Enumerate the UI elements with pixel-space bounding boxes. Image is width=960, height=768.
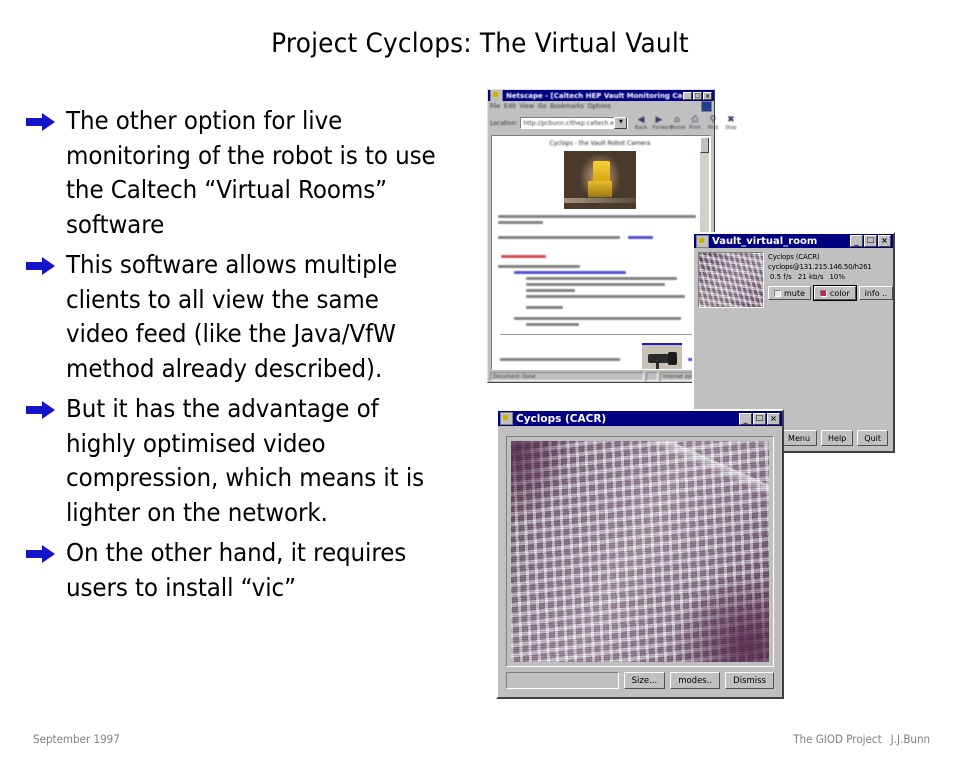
- page-divider: [500, 334, 700, 335]
- minimize-icon[interactable]: _: [683, 92, 692, 100]
- vault-source-info: Cyclops (CACR) cyclops@131.215.146.50/h2…: [768, 252, 893, 308]
- arrow-right-icon: [26, 536, 60, 563]
- arrow-right-icon: ▶: [652, 115, 665, 125]
- arrow-right-icon: [26, 248, 60, 275]
- arrow-right-icon: [26, 392, 60, 419]
- page-content-heading: Cyclops - the Vault Robot Camera: [498, 140, 702, 147]
- menu-item-go[interactable]: Go: [538, 103, 546, 110]
- page-link[interactable]: [501, 255, 546, 258]
- status-indicator: [646, 372, 658, 381]
- vault-window-controls[interactable]: _ □ ×: [850, 235, 891, 247]
- list-item-label: On the other hand, it requires users to …: [66, 536, 438, 605]
- browser-tool-icons[interactable]: ◀Back ▶Forward ⌂Home ⎙Print ⚲Find ✖Stop: [631, 115, 737, 131]
- browser-statusbar: Document: Done Internet zone: [490, 371, 712, 381]
- page-text-line: [498, 221, 543, 224]
- cyclops-window-controls[interactable]: _ □ ×: [739, 413, 780, 425]
- mute-toggle[interactable]: mute: [768, 286, 811, 300]
- cyclops-bottom-bar[interactable]: Size... modes.. Dismiss: [506, 672, 774, 689]
- menu-item-edit[interactable]: Edit: [504, 103, 516, 110]
- list-item: But it has the advantage of highly optim…: [26, 392, 462, 530]
- browser-title-text: Netscape - [Caltech HEP Vault Monitoring…: [506, 92, 683, 100]
- chevron-down-icon[interactable]: ▼: [614, 117, 627, 129]
- search-icon: ⚲: [706, 115, 719, 125]
- stat-loss: 10%: [829, 272, 845, 282]
- list-item-label: But it has the advantage of highly optim…: [66, 392, 438, 530]
- robot-photo: [564, 151, 636, 209]
- vault-video-thumbnail[interactable]: [698, 252, 764, 308]
- color-toggle[interactable]: color: [814, 286, 856, 300]
- vault-stats: 0.5 f/s 21 kb/s 10%: [768, 272, 893, 282]
- arrow-left-icon: ◀: [634, 115, 647, 125]
- bullet-list: The other option for live monitoring of …: [26, 104, 462, 611]
- browser-logo-icon: [701, 101, 712, 112]
- menu-item-bookmarks[interactable]: Bookmarks: [550, 103, 584, 110]
- page-text-line: [514, 317, 681, 320]
- maximize-icon[interactable]: □: [693, 92, 702, 100]
- page-text-line: [498, 265, 580, 268]
- minimize-icon[interactable]: _: [850, 235, 863, 247]
- browser-page-content[interactable]: Cyclops - the Vault Robot Camera: [491, 135, 711, 370]
- scrollbar-thumb[interactable]: [700, 137, 709, 153]
- browser-menubar[interactable]: File Edit View Go Bookmarks Options: [488, 101, 714, 112]
- minimize-icon[interactable]: _: [739, 413, 752, 425]
- page-text-line: [526, 289, 575, 292]
- page-text-line: [526, 306, 563, 309]
- list-item-label: This software allows multiple clients to…: [66, 248, 438, 386]
- quit-button[interactable]: Quit: [857, 430, 888, 446]
- list-item: The other option for live monitoring of …: [26, 104, 462, 242]
- browser-toolbar[interactable]: Location: http://pcbunn.cithep.caltech.e…: [488, 112, 714, 134]
- vault-source-address: cyclops@131.215.146.50/h261: [768, 263, 893, 273]
- vault-bottom-buttons[interactable]: Menu Help Quit: [781, 430, 888, 446]
- cyclops-video-window[interactable]: Cyclops (CACR) _ □ × Size... modes.. Dis…: [496, 409, 784, 699]
- list-item: This software allows multiple clients to…: [26, 248, 462, 386]
- vault-controls[interactable]: mute color info ..: [768, 286, 893, 300]
- close-icon[interactable]: ×: [703, 92, 712, 100]
- page-text-line: [526, 277, 677, 280]
- vault-source-panel: Cyclops (CACR) cyclops@131.215.146.50/h2…: [694, 248, 893, 308]
- help-button[interactable]: Help: [821, 430, 853, 446]
- checkbox-icon: [774, 290, 781, 297]
- cyclops-title-text: Cyclops (CACR): [516, 413, 739, 425]
- page-text-line: [500, 358, 620, 361]
- cyclops-video-image: [511, 441, 769, 662]
- modes-button[interactable]: modes..: [670, 672, 720, 689]
- stat-bit-rate: 21 kb/s: [798, 272, 824, 282]
- vault-app-icon: [696, 235, 709, 248]
- cyclops-video-frame[interactable]: [506, 436, 774, 667]
- forward-button[interactable]: ▶Forward: [652, 115, 665, 131]
- cyclops-titlebar: Cyclops (CACR) _ □ ×: [498, 411, 782, 426]
- home-button[interactable]: ⌂Home: [670, 115, 683, 131]
- checkbox-icon: [820, 290, 827, 297]
- size-button[interactable]: Size...: [624, 672, 666, 689]
- dismiss-button[interactable]: Dismiss: [725, 672, 774, 689]
- vault-titlebar: Vault_virtual_room _ □ ×: [694, 234, 893, 248]
- footer-credit: The GIOD ProjectJ.J.Bunn: [793, 732, 930, 746]
- close-icon[interactable]: ×: [767, 413, 780, 425]
- maximize-icon[interactable]: □: [864, 235, 877, 247]
- address-input[interactable]: http://pcbunn.cithep.caltech.edu/vault.h…: [520, 117, 628, 129]
- print-button[interactable]: ⎙Print: [688, 115, 701, 131]
- vault-title-text: Vault_virtual_room: [712, 236, 850, 247]
- camera-link-row[interactable]: [498, 343, 702, 370]
- footer-project: The GIOD Project: [793, 732, 881, 746]
- page-link[interactable]: [514, 271, 626, 274]
- footer-author: J.J.Bunn: [891, 732, 930, 746]
- page-text-line: [498, 215, 696, 218]
- page-text-line: [526, 323, 579, 326]
- list-item-label: The other option for live monitoring of …: [66, 104, 438, 242]
- menu-button[interactable]: Menu: [781, 430, 817, 446]
- maximize-icon[interactable]: □: [753, 413, 766, 425]
- list-item: On the other hand, it requires users to …: [26, 536, 462, 605]
- stop-button[interactable]: ✖Stop: [724, 115, 737, 131]
- stop-icon: ✖: [724, 115, 737, 125]
- back-button[interactable]: ◀Back: [634, 115, 647, 131]
- camera-caption: [500, 358, 636, 364]
- footer-date: September 1997: [33, 732, 120, 746]
- stat-frame-rate: 0.5 f/s: [770, 272, 792, 282]
- cyclops-message-field: [506, 672, 619, 689]
- page-body: Cyclops - the Vault Robot Camera: [492, 136, 710, 370]
- page-title: Project Cyclops: The Virtual Vault: [38, 28, 921, 59]
- page-text-line: [498, 236, 620, 239]
- address-label: Location:: [490, 120, 517, 127]
- menu-item-view[interactable]: View: [520, 103, 534, 110]
- camera-icon[interactable]: [642, 343, 682, 370]
- page-text-line: [526, 283, 665, 286]
- arrow-right-icon: [26, 104, 60, 131]
- browser-app-icon: [490, 90, 503, 101]
- find-button[interactable]: ⚲Find: [706, 115, 719, 131]
- browser-window-controls[interactable]: _ □ ×: [683, 92, 712, 100]
- browser-titlebar: Netscape - [Caltech HEP Vault Monitoring…: [488, 90, 714, 101]
- status-text: Document: Done: [490, 372, 644, 381]
- page-link[interactable]: [628, 236, 652, 239]
- menu-item-file[interactable]: File: [490, 103, 500, 110]
- vault-source-name: Cyclops (CACR): [768, 253, 893, 263]
- page-text-line: [526, 295, 685, 298]
- cyclops-app-icon: [500, 412, 513, 425]
- home-icon: ⌂: [670, 115, 683, 125]
- browser-window[interactable]: Netscape - [Caltech HEP Vault Monitoring…: [487, 89, 715, 383]
- info-button[interactable]: info ..: [859, 286, 894, 300]
- close-icon[interactable]: ×: [878, 235, 891, 247]
- menu-item-options[interactable]: Options: [588, 103, 611, 110]
- printer-icon: ⎙: [688, 115, 701, 125]
